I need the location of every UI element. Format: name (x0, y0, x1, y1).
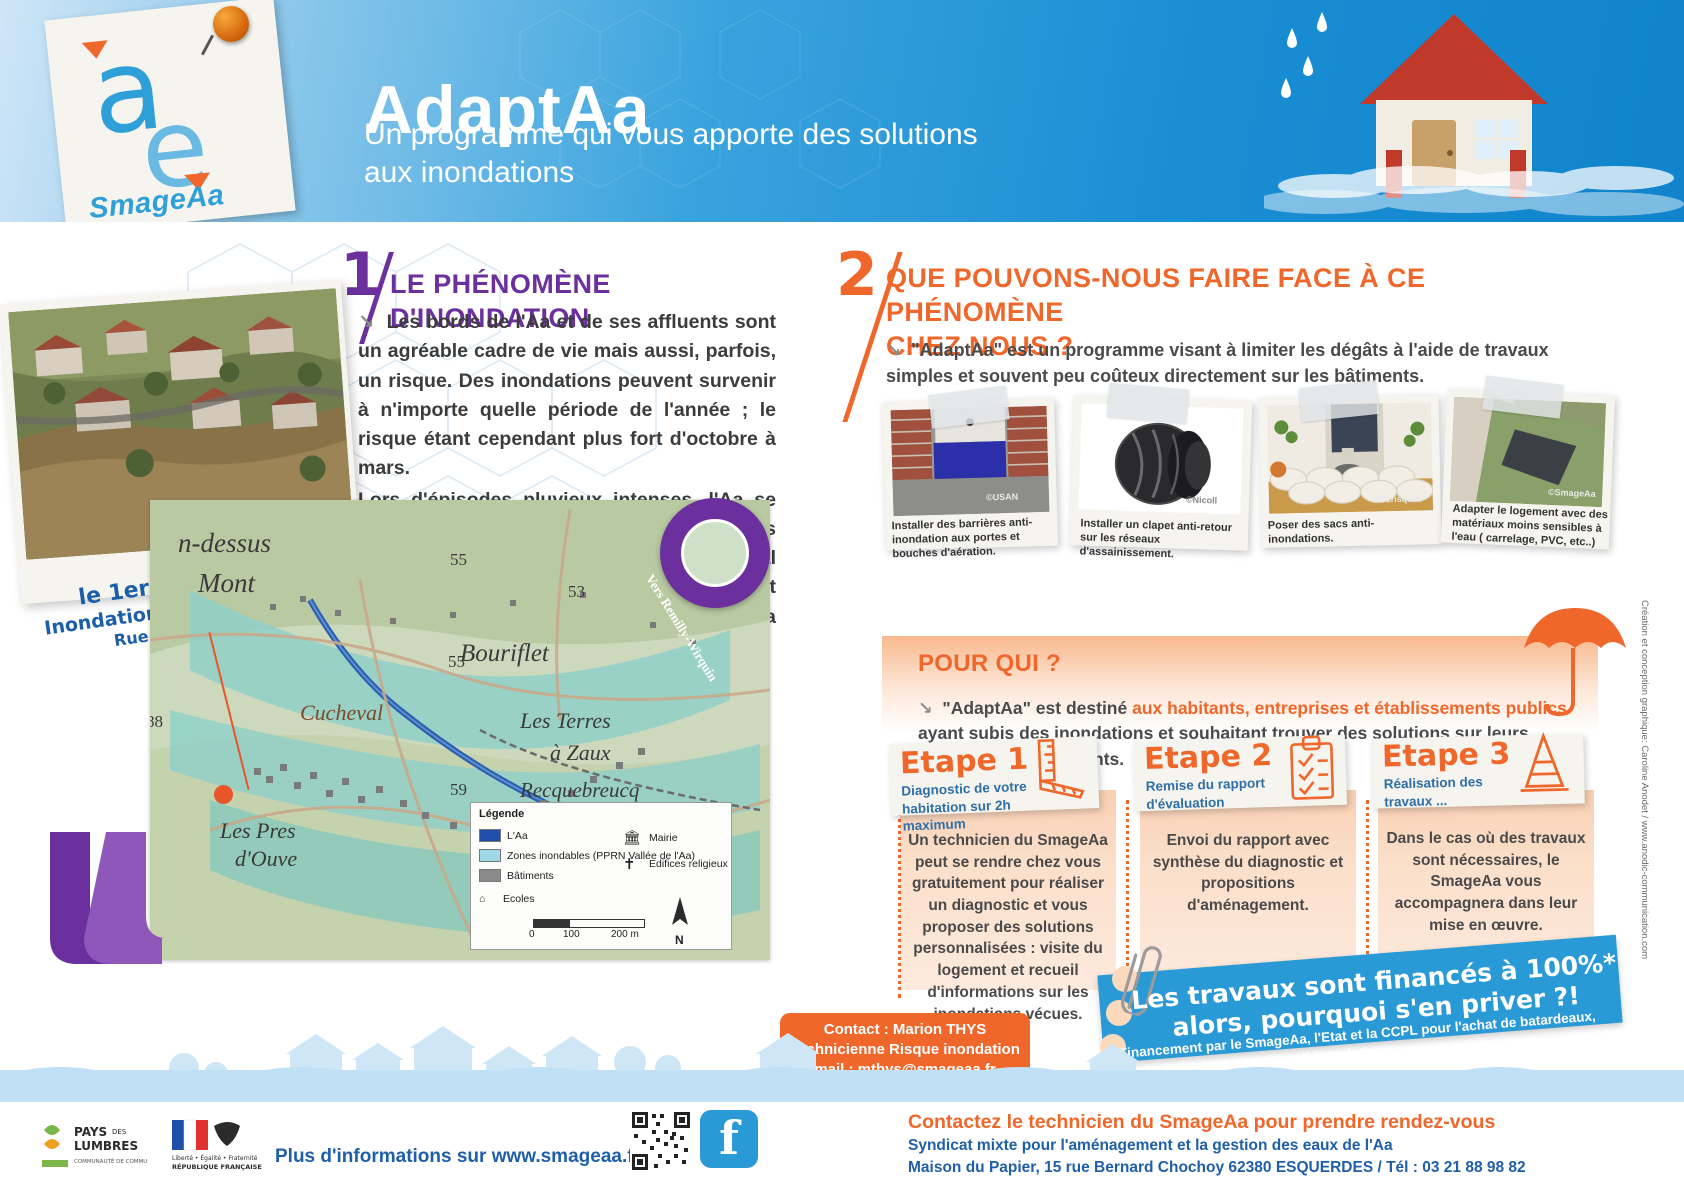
legend-label-religieux: Edifices religieux (649, 858, 728, 870)
photo-1-credit: ©USAN (986, 492, 1018, 503)
pour-qui-text-before: "AdaptAa" est destiné (942, 698, 1132, 718)
legend-label-0: L'Aa (507, 830, 528, 842)
map-scale-bar (533, 919, 645, 928)
qr-code-icon[interactable] (630, 1110, 692, 1172)
smageaa-logo: a e SmageAa (50, 1, 295, 233)
svg-text:PAYS: PAYS (74, 1125, 107, 1139)
map-label-55a: 55 (450, 550, 467, 570)
map-label-53: 53 (568, 582, 585, 602)
legend-label-3: Ecoles (503, 893, 535, 905)
map-location-marker (214, 785, 233, 804)
pour-qui-title: POUR QUI ? (918, 650, 1061, 678)
section-2-intro-text: "AdaptAa" est un programme visant à limi… (886, 340, 1549, 386)
map-label-les-terres: Les Terres (520, 708, 611, 734)
photo-2-caption: Installer un clapet anti-retour sur les … (1079, 517, 1248, 564)
mairie-icon: 🏛 (623, 829, 643, 846)
pays-de-lumbres-logo: PAYS DES LUMBRES COMMUNAUTÉ DE COMMUNES (40, 1120, 148, 1170)
etape-1-title: Etape 1 (899, 742, 1028, 782)
facebook-icon[interactable]: f (700, 1110, 758, 1168)
map-label-n-dessus: n-dessus (178, 528, 271, 559)
scale-label-0: 0 (529, 929, 535, 940)
svg-text:DES: DES (112, 1128, 127, 1136)
etape-2-title: Etape 2 (1143, 738, 1272, 777)
website-link[interactable]: Plus d'informations sur www.smageaa.fr (275, 1146, 641, 1168)
house-flood-illustration (1264, 0, 1684, 222)
arrow-marker-icon-2: ↘ (886, 340, 901, 360)
push-pin-icon (213, 6, 249, 42)
legend-row-2: Bâtiments (479, 869, 554, 882)
north-label: N (675, 933, 684, 947)
etape-1-body: Un technicien du SmageAa peut se rendre … (908, 830, 1108, 1025)
subtitle-line-1: Un programme qui vous apporte des soluti… (364, 116, 978, 154)
etape-divider-left (898, 800, 901, 998)
scale-label-100: 100 (563, 929, 580, 940)
svg-text:Liberté • Égalité • Fraternité: Liberté • Égalité • Fraternité (172, 1154, 258, 1162)
etape-3-subtitle: Réalisation des travaux ... (1384, 772, 1515, 810)
footer-org-name: Syndicat mixte pour l'aménagement et la … (908, 1135, 1668, 1157)
legend-label-2: Bâtiments (507, 870, 554, 882)
clipboard-icon (1283, 733, 1341, 803)
legend-swatch-aa (479, 829, 501, 842)
map-label-cucheval: Cucheval (300, 700, 383, 726)
page-subtitle: Un programme qui vous apporte des soluti… (364, 116, 978, 193)
photo-2-credit: ©Nicoll (1186, 495, 1217, 506)
svg-text:LUMBRES: LUMBRES (74, 1139, 138, 1153)
pour-qui-highlight: aux habitants, entreprises et établissem… (1132, 698, 1567, 718)
map-label-bouriflet: Bouriflet (460, 640, 549, 668)
map-label-mont: Mont (198, 568, 255, 599)
etape-3-title: Etape 3 (1382, 736, 1511, 774)
svg-text:RÉPUBLIQUE FRANÇAISE: RÉPUBLIQUE FRANÇAISE (172, 1162, 262, 1171)
map-label-88: 88 (150, 712, 163, 732)
section-1-paragraph-1: Les bords de l'Aa et de ses affluents so… (358, 311, 776, 479)
section-2-title-line-1: QUE POUVONS-NOUS FAIRE FACE À CE PHÉNOMÈ… (886, 262, 1606, 330)
map-label-55b: 55 (448, 652, 465, 672)
map-inset-compass (660, 498, 770, 608)
logo-wordmark: SmageAa (88, 179, 226, 226)
tape-strip-2 (1107, 383, 1190, 424)
etape-2-body: Envoi du rapport avec synthèse du diagno… (1148, 830, 1348, 917)
school-icon: ⌂ (479, 893, 497, 905)
map-label-59: 59 (450, 780, 467, 800)
umbrella-icon (1520, 600, 1630, 720)
logo-triangle-top (82, 40, 110, 60)
section-2-number: 2 (836, 248, 878, 302)
footer-logos: PAYS DES LUMBRES COMMUNAUTÉ DE COMMUNES … (40, 1118, 270, 1172)
water-wave-decor (0, 1056, 1684, 1078)
etape-3-body: Dans le cas où des travaux sont nécessai… (1386, 828, 1586, 936)
legend-title: Légende (479, 808, 524, 820)
compass-inner-circle (681, 519, 749, 587)
footer-contact-info: Contactez le technicien du SmageAa pour … (908, 1110, 1668, 1179)
scale-label-200: 200 m (611, 929, 639, 940)
photo-4-caption: Adapter le logement avec des matériaux m… (1451, 503, 1613, 551)
photo-3-credit: ©O1risques (1372, 493, 1423, 504)
map-label-a-zaux: à Zaux (550, 740, 611, 766)
legend-label-mairie: Mairie (649, 832, 678, 844)
section-2-intro: ↘ "AdaptAa" est un programme visant à li… (886, 337, 1586, 389)
etape-1-subtitle: Diagnostic de votre habitation sur 2h ma… (901, 777, 1041, 835)
photo-1-caption: Installer des barrières anti-inondation … (891, 516, 1058, 562)
map-legend: Légende L'Aa Zones inondables (PPRN Vall… (470, 802, 732, 950)
legend-swatch-zones (479, 849, 501, 862)
svg-text:COMMUNAUTÉ DE COMMUNES: COMMUNAUTÉ DE COMMUNES (74, 1157, 148, 1165)
design-credit: Création et conception graphique: Caroli… (1639, 600, 1650, 900)
footer-address: Maison du Papier, 15 rue Bernard Chochoy… (908, 1157, 1668, 1179)
map-label-les-pres: Les Pres (220, 818, 296, 844)
etape-2-subtitle: Remise du rapport d'évaluation (1145, 774, 1276, 813)
photo-3-caption: Poser des sacs anti-inondations. (1268, 516, 1437, 547)
arrow-marker-icon-3: ↘ (918, 698, 933, 718)
photo-4-credit: ©SmageAa (1548, 487, 1596, 499)
republique-francaise-logo: Liberté • Égalité • Fraternité RÉPUBLIQU… (170, 1118, 270, 1172)
map-label-recquebreucq: Recquebreucq (520, 778, 639, 803)
arrow-marker-icon: ↘ (358, 311, 374, 333)
legend-row-religieux: ✝ Edifices religieux (623, 855, 728, 873)
legend-row-mairie: 🏛 Mairie (623, 829, 678, 846)
north-arrow-icon (667, 895, 693, 937)
subtitle-line-2: aux inondations (364, 154, 978, 192)
legend-swatch-batiments (479, 869, 501, 882)
map-label-douve: d'Ouve (235, 846, 297, 872)
footer-cta: Contactez le technicien du SmageAa pour … (908, 1110, 1668, 1135)
church-cross-icon: ✝ (623, 855, 643, 873)
traffic-cone-icon (1515, 731, 1573, 798)
ruler-icon (1031, 737, 1091, 801)
rain-boots-icon (30, 820, 170, 980)
legend-row-0: L'Aa (479, 829, 528, 842)
header-banner: a e SmageAa AdaptAa Un programme qui vou… (0, 0, 1684, 222)
legend-row-3: ⌂ Ecoles (479, 893, 535, 905)
